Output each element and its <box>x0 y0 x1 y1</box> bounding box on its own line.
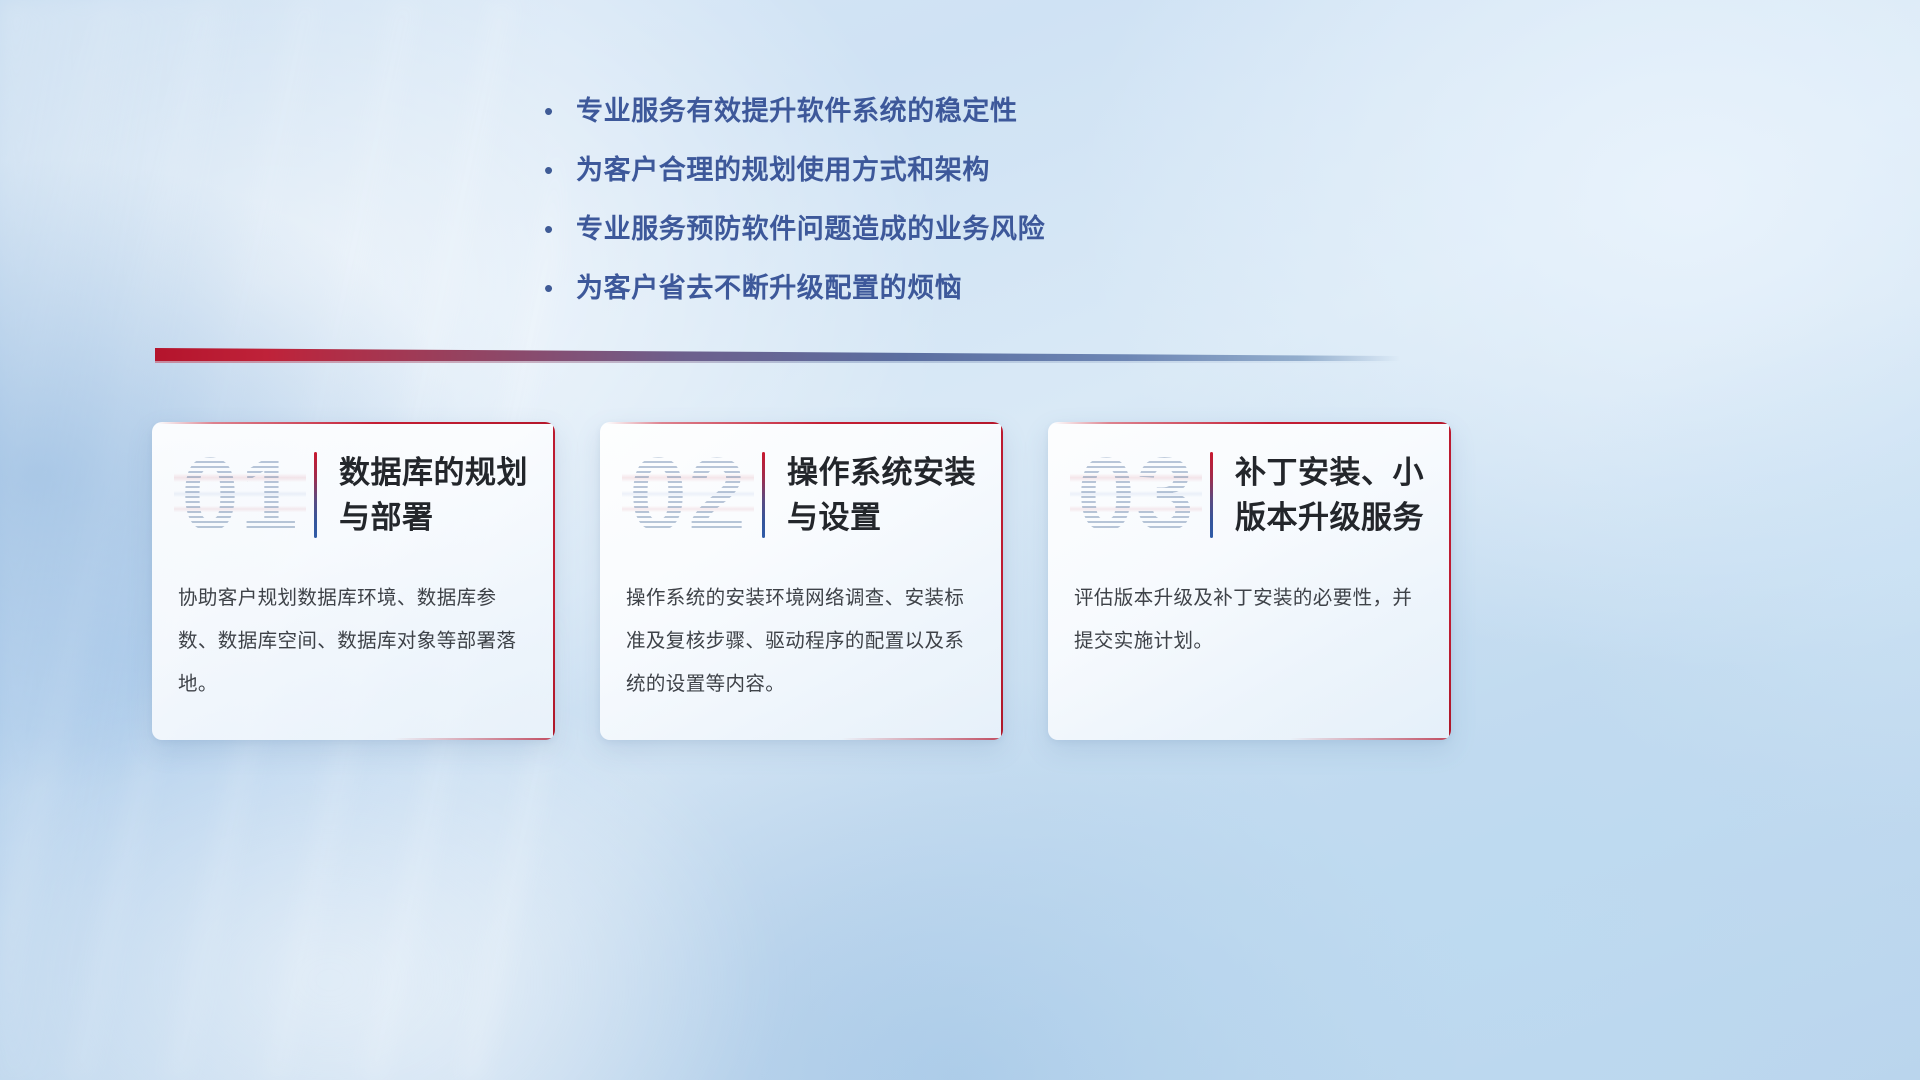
card-accent-bottom <box>394 738 555 740</box>
bullet-item: • 专业服务有效提升软件系统的稳定性 <box>540 92 1260 130</box>
bullet-dot-icon: • <box>540 151 576 189</box>
service-card[interactable]: 01 数据库的规划 与部署 协助客户规划数据库环境、数据库参数、数据库空间、数据… <box>152 422 555 740</box>
card-row: 01 数据库的规划 与部署 协助客户规划数据库环境、数据库参数、数据库空间、数据… <box>152 422 1452 740</box>
bullet-item-label: 专业服务预防软件问题造成的业务风险 <box>576 210 1045 248</box>
card-divider-bar <box>314 452 317 538</box>
bullet-item-label: 专业服务有效提升软件系统的稳定性 <box>576 92 1018 130</box>
bullet-item: • 为客户合理的规划使用方式和架构 <box>540 151 1260 189</box>
bullet-list: • 专业服务有效提升软件系统的稳定性 • 为客户合理的规划使用方式和架构 • 专… <box>540 92 1260 328</box>
card-title: 补丁安装、小 版本升级服务 <box>1235 450 1425 540</box>
card-header: 01 数据库的规划 与部署 <box>152 422 555 567</box>
card-accent-bottom <box>1290 738 1451 740</box>
card-title-line: 数据库的规划 <box>339 450 529 495</box>
service-card[interactable]: 03 补丁安装、小 版本升级服务 评估版本升级及补丁安装的必要性，并提交实施计划… <box>1048 422 1451 740</box>
card-body-text: 操作系统的安装环境网络调查、安装标准及复核步骤、驱动程序的配置以及系统的设置等内… <box>600 567 1003 706</box>
card-header: 03 补丁安装、小 版本升级服务 <box>1048 422 1451 567</box>
divider-gradient-bar <box>155 348 1400 361</box>
card-body-text: 协助客户规划数据库环境、数据库参数、数据库空间、数据库对象等部署落地。 <box>152 567 555 706</box>
card-number-watermark: 03 <box>1070 441 1202 549</box>
bullet-dot-icon: • <box>540 269 576 307</box>
card-title-line: 操作系统安装 <box>787 450 977 495</box>
divider-hairline <box>155 361 1400 363</box>
bullet-item-label: 为客户合理的规划使用方式和架构 <box>576 151 990 189</box>
bullet-dot-icon: • <box>540 92 576 130</box>
card-title-line: 补丁安装、小 <box>1235 450 1425 495</box>
bullet-item: • 专业服务预防软件问题造成的业务风险 <box>540 210 1260 248</box>
card-body-text: 评估版本升级及补丁安装的必要性，并提交实施计划。 <box>1048 567 1451 663</box>
card-divider-bar <box>1210 452 1213 538</box>
bullet-item-label: 为客户省去不断升级配置的烦恼 <box>576 269 962 307</box>
bullet-dot-icon: • <box>540 210 576 248</box>
card-number-watermark: 02 <box>622 441 754 549</box>
card-title-line: 与部署 <box>339 495 529 540</box>
card-title: 操作系统安装 与设置 <box>787 450 977 540</box>
card-accent-bottom <box>842 738 1003 740</box>
card-title: 数据库的规划 与部署 <box>339 450 529 540</box>
card-divider-bar <box>762 452 765 538</box>
card-number-watermark: 01 <box>174 441 306 549</box>
card-header: 02 操作系统安装 与设置 <box>600 422 1003 567</box>
card-title-line: 与设置 <box>787 495 977 540</box>
section-divider <box>155 348 1400 361</box>
service-card[interactable]: 02 操作系统安装 与设置 操作系统的安装环境网络调查、安装标准及复核步骤、驱动… <box>600 422 1003 740</box>
bullet-item: • 为客户省去不断升级配置的烦恼 <box>540 269 1260 307</box>
card-title-line: 版本升级服务 <box>1235 495 1425 540</box>
